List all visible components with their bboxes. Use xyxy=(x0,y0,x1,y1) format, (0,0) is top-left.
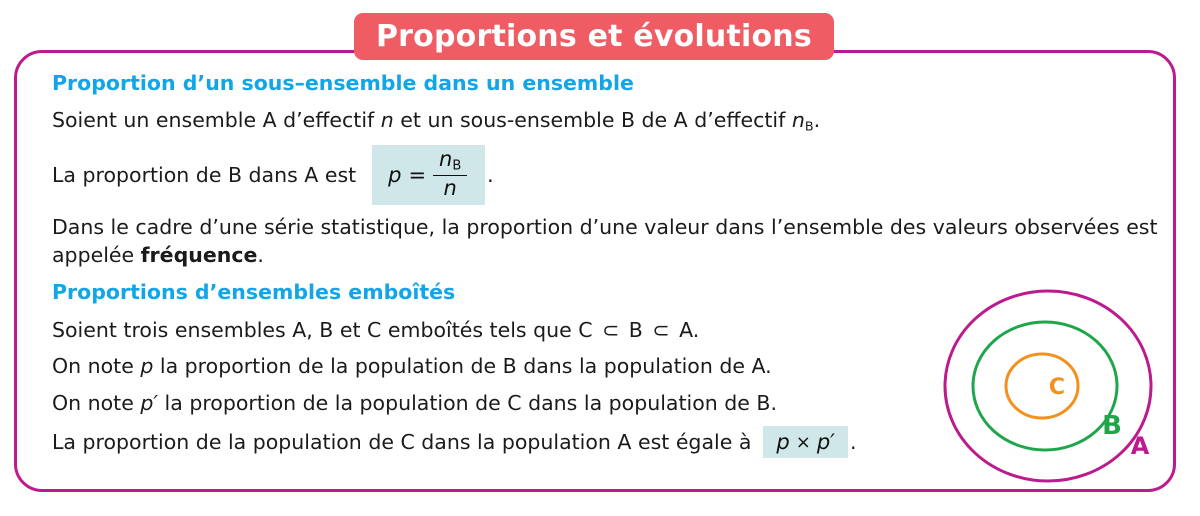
content-area: Proportion d’un sous–ensemble dans un en… xyxy=(52,72,1162,458)
equation-rhs: p′ xyxy=(817,430,835,454)
formula-box-proportion: p = nB n xyxy=(372,145,485,205)
text-part: . xyxy=(257,243,264,267)
text-part: On note xyxy=(52,391,140,415)
subset-symbol: ⊂ xyxy=(649,318,672,342)
paragraph-note-p-prime: On note p′ la proportion de la populatio… xyxy=(52,390,1162,417)
text-part: la proportion de la population de C dans… xyxy=(158,391,777,415)
paragraph-trois-ensembles: Soient trois ensembles A, B et C emboîté… xyxy=(52,317,1162,344)
text-part: la proportion de la population de B dans… xyxy=(153,354,771,378)
equals-sign: = xyxy=(402,163,434,187)
paragraph-definition-effectifs: Soient un ensemble A d’effectif n et un … xyxy=(52,107,1162,135)
text-part: Soient un ensemble A d’effectif xyxy=(52,108,381,132)
variable-p-prime: p′ xyxy=(140,391,158,415)
variable-p: p xyxy=(140,354,153,378)
multiplication-sign: × xyxy=(790,432,817,453)
numerator-subscript: B xyxy=(452,159,461,174)
text-part: On note xyxy=(52,354,140,378)
formula-row-produit: La proportion de la population de C dans… xyxy=(52,426,1162,458)
equation-lhs: p xyxy=(388,163,401,187)
formula-row-proportion: La proportion de B dans A est p = nB n . xyxy=(52,145,1162,205)
emphasis-frequence: fréquence xyxy=(141,243,258,267)
variable-nb-subscript: B xyxy=(805,118,814,133)
subset-symbol: ⊂ xyxy=(599,318,622,342)
formula-lead-text: La proportion de la population de C dans… xyxy=(52,430,751,454)
paragraph-note-p: On note p la proportion de la population… xyxy=(52,353,1162,380)
numerator-symbol: n xyxy=(439,147,452,171)
fraction: nB n xyxy=(433,149,467,199)
variable-n: n xyxy=(381,108,394,132)
formula-box-produit: p × p′ xyxy=(763,426,848,458)
paragraph-frequence: Dans le cadre d’une série statistique, l… xyxy=(52,214,1162,269)
page-title: Proportions et évolutions xyxy=(376,22,812,52)
text-part: . xyxy=(814,108,821,132)
formula-trailing-period: . xyxy=(485,163,494,187)
equation-p-equals-nb-over-n: p = nB n xyxy=(388,150,467,200)
formula-lead-text: La proportion de B dans A est xyxy=(52,163,356,187)
page-root: Proportions et évolutions Proportion d’u… xyxy=(0,0,1200,516)
formula-trailing-period: . xyxy=(850,430,857,454)
text-part: et un sous-ensemble B de A d’effectif xyxy=(394,108,792,132)
section-heading-proportion-sous-ensemble: Proportion d’un sous–ensemble dans un en… xyxy=(52,72,1162,95)
text-part: A. xyxy=(673,318,700,342)
text-part: B xyxy=(622,318,649,342)
fraction-denominator: n xyxy=(439,176,460,199)
title-banner: Proportions et évolutions xyxy=(354,13,834,60)
fraction-numerator: nB xyxy=(435,149,465,175)
equation-lhs: p xyxy=(776,430,789,454)
variable-nb: n xyxy=(792,108,805,132)
section-heading-ensembles-emboites: Proportions d’ensembles emboîtés xyxy=(52,281,1162,304)
text-part: Soient trois ensembles A, B et C emboîté… xyxy=(52,318,599,342)
equation-p-times-p-prime: p × p′ xyxy=(776,430,835,454)
